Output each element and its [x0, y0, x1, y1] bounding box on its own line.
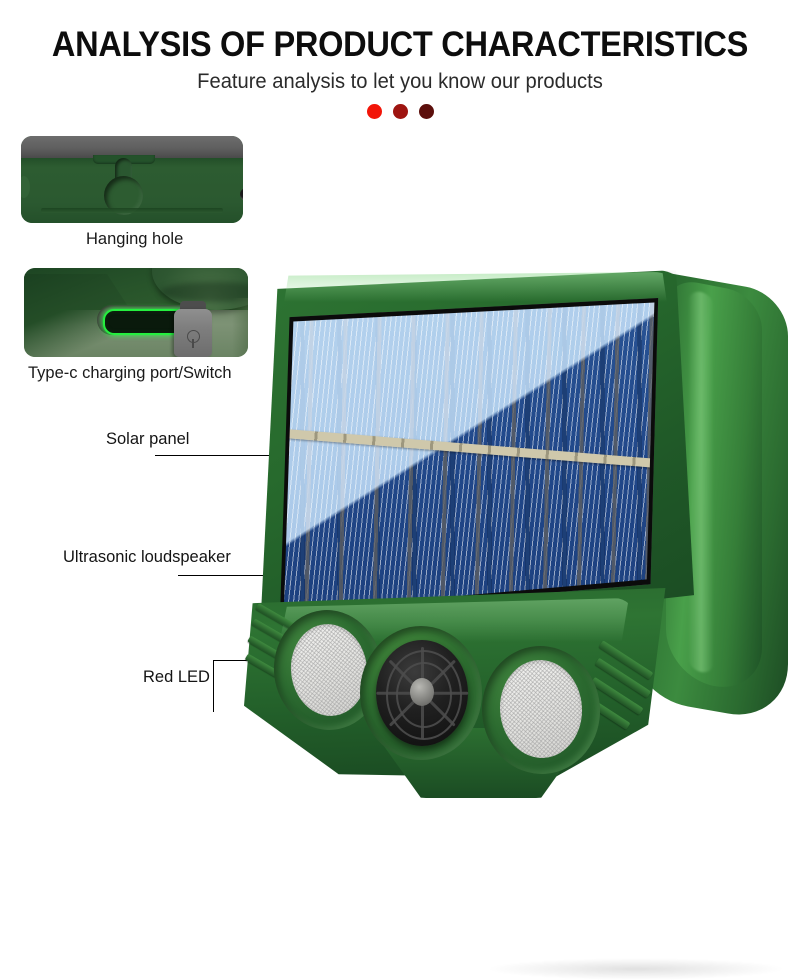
callout-caption-hanging-hole: Hanging hole: [86, 230, 183, 249]
solar-panel-glass: [280, 298, 662, 616]
product-housing: [236, 258, 796, 788]
accent-dot-1: [367, 104, 382, 119]
callout-type-c-port: [24, 268, 248, 357]
leader-line-red-led-v: [213, 660, 214, 712]
accent-dot-3: [419, 104, 434, 119]
accent-dot-2: [393, 104, 408, 119]
infographic-stage: ANALYSIS OF PRODUCT CHARACTERISTICS Feat…: [0, 0, 800, 800]
product-shadow: [486, 958, 786, 980]
label-ultrasonic-loudspeaker: Ultrasonic loudspeaker: [63, 548, 231, 567]
page-subtitle: Feature analysis to let you know our pro…: [16, 70, 784, 94]
callout-hanging-hole: [21, 136, 243, 223]
label-red-led: Red LED: [143, 668, 210, 687]
speaker-hub: [410, 678, 434, 706]
flap-loop-stem-icon: [192, 339, 194, 348]
callout-caption-type-c-port: Type-c charging port/Switch: [28, 364, 232, 383]
product-image: [236, 258, 796, 788]
housing-ledge: [41, 208, 223, 213]
page-title: ANALYSIS OF PRODUCT CHARACTERISTICS: [28, 25, 772, 65]
housing-edge-highlight: [688, 289, 714, 674]
label-solar-panel: Solar panel: [106, 430, 189, 449]
front-bezel-highlight: [254, 272, 684, 302]
accent-dots: [0, 104, 800, 119]
solar-panel: [280, 298, 662, 616]
